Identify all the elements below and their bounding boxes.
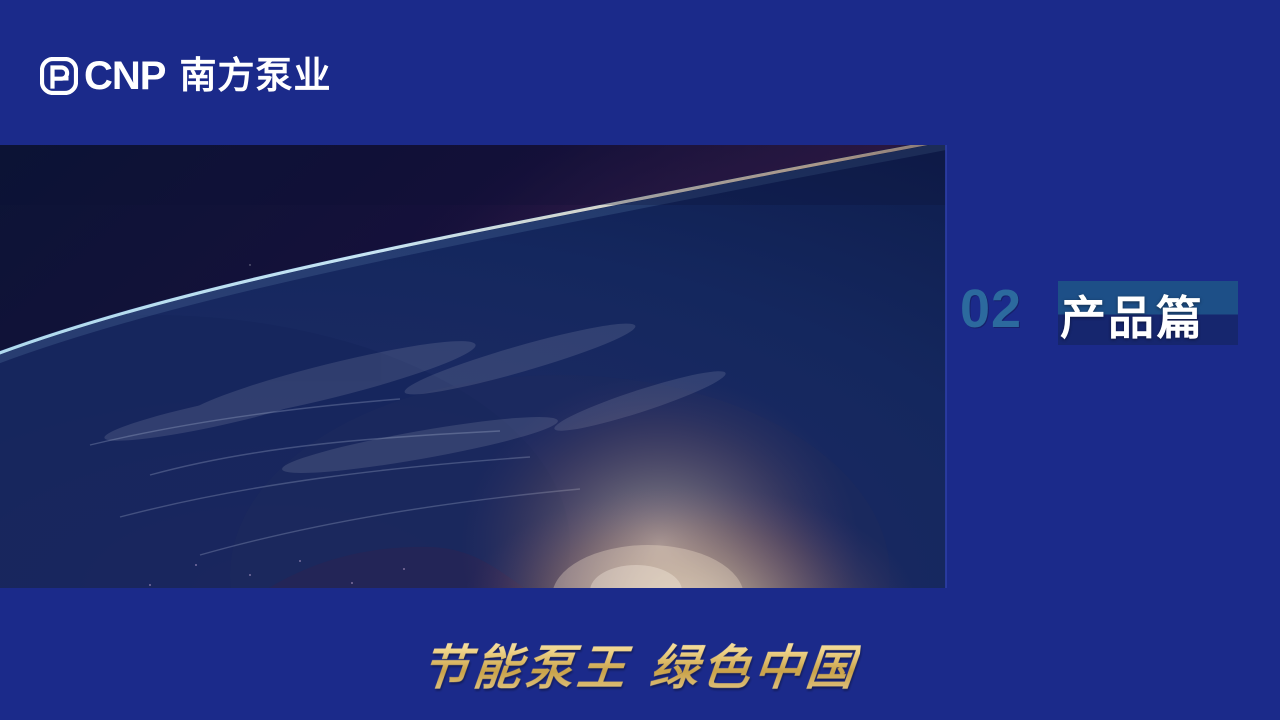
cnp-monogram-icon (40, 57, 78, 95)
section-label-group: 02 产品篇 (946, 145, 1280, 588)
slide-header: CNP 南方泵业 (0, 0, 1280, 145)
logo-brand-chinese: 南方泵业 (179, 56, 331, 96)
presentation-slide: CNP 南方泵业 (0, 0, 1280, 720)
earth-from-space-photo (0, 145, 946, 588)
logo-brand-latin: CNP (84, 56, 165, 96)
section-title: 产品篇 (1060, 277, 1250, 353)
section-number: 02 (960, 282, 1022, 336)
footer-slogan: 节能泵王 绿色中国 (0, 628, 1280, 698)
company-logo: CNP 南方泵业 (40, 52, 331, 100)
footer-slogan-text: 节能泵王 绿色中国 (418, 628, 862, 698)
